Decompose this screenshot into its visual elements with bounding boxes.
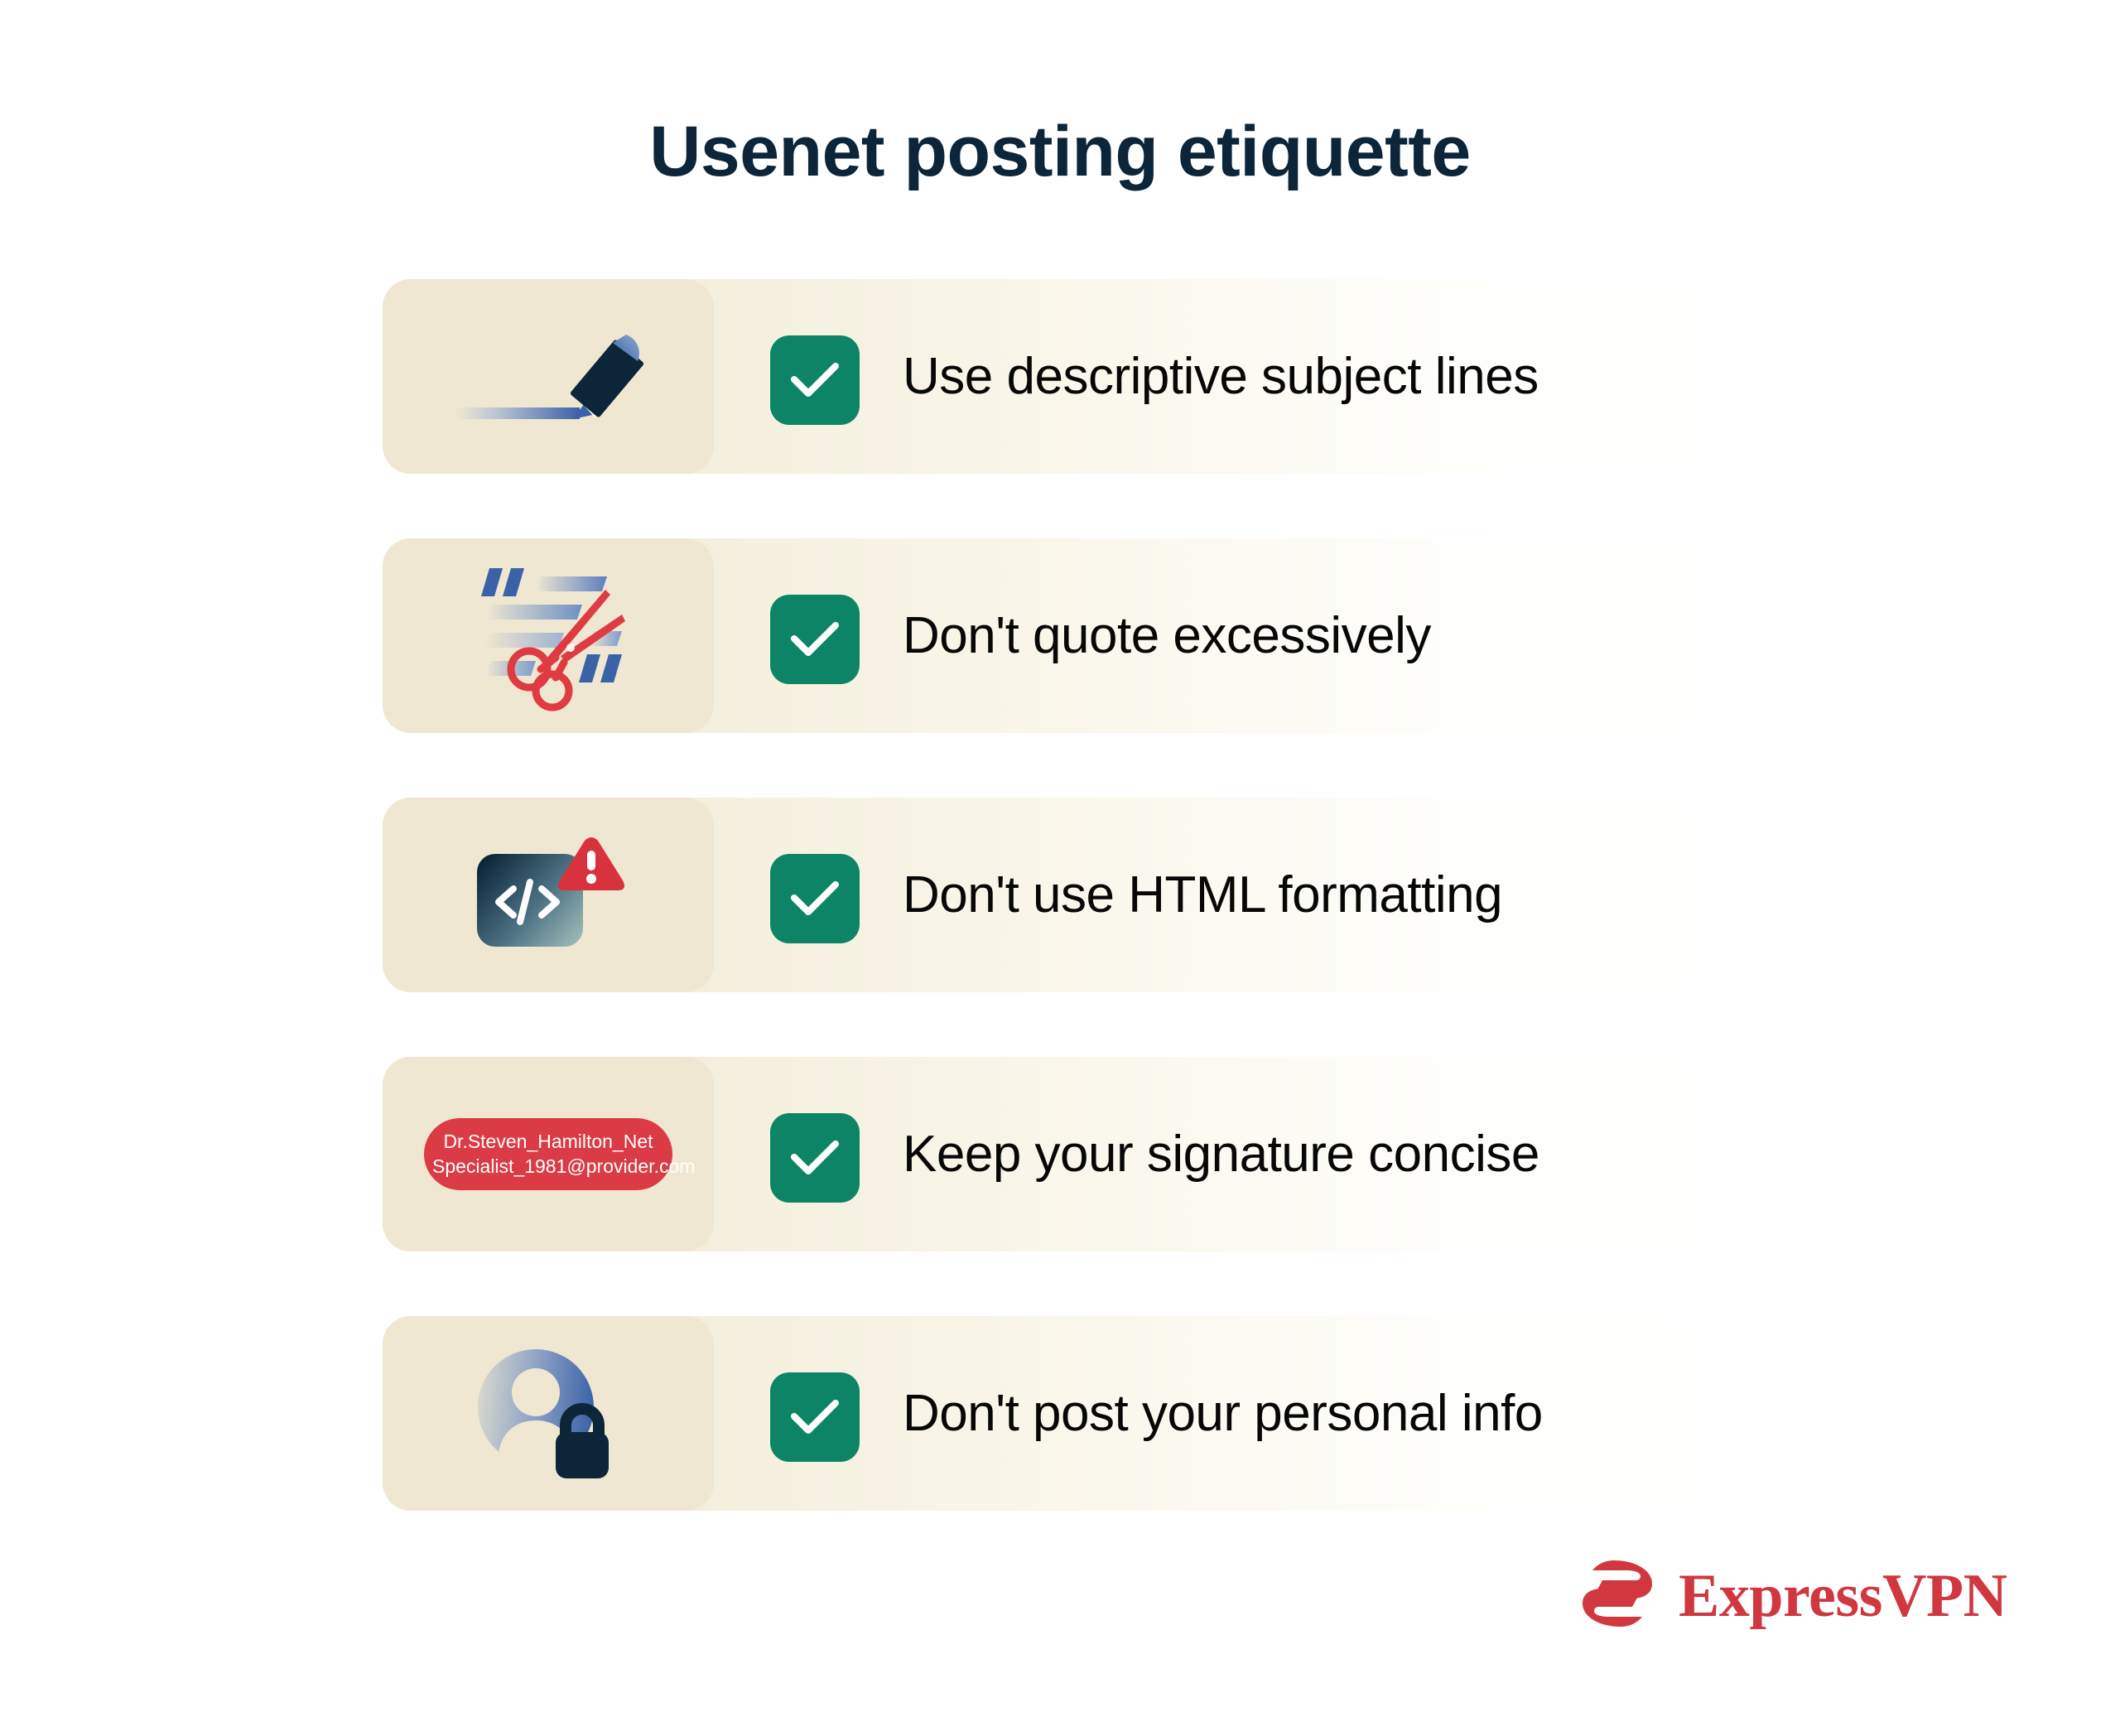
icon-panel: [383, 279, 714, 474]
list-item-label: Use descriptive subject lines: [903, 347, 1539, 406]
avatar-lock-privacy-icon: [470, 1341, 627, 1486]
list-item-label: Don't use HTML formatting: [903, 866, 1502, 924]
scissors-cutting-text-icon: [460, 553, 638, 719]
etiquette-list: Use descriptive subject lines: [383, 279, 1699, 1511]
check-icon: [770, 335, 860, 425]
icon-panel: [383, 1316, 714, 1511]
icon-panel: [383, 538, 714, 733]
list-item: Don't post your personal info: [383, 1316, 1699, 1511]
list-item: Don't use HTML formatting: [383, 798, 1699, 992]
infographic-page: Usenet posting etiquette: [0, 0, 2120, 1736]
check-icon: [770, 854, 860, 943]
list-item: Don't quote excessively: [383, 538, 1699, 733]
check-icon: [770, 1372, 860, 1462]
list-item: Dr.Steven_Hamilton_Net Specialist_1981@p…: [383, 1057, 1699, 1251]
check-icon: [770, 595, 860, 684]
brand-logo: ExpressVPN: [1578, 1557, 2007, 1634]
check-icon: [770, 1113, 860, 1203]
page-title: Usenet posting etiquette: [0, 113, 2120, 191]
icon-panel: [383, 798, 714, 992]
brand-name: ExpressVPN: [1679, 1565, 2007, 1627]
pencil-writing-icon: [449, 315, 648, 439]
expressvpn-e-mark-icon: [1578, 1557, 1657, 1634]
list-item-label: Keep your signature concise: [903, 1125, 1539, 1184]
signature-line-2: Specialist_1981@provider.com: [432, 1155, 664, 1179]
long-signature-badge-icon: Dr.Steven_Hamilton_Net Specialist_1981@p…: [424, 1118, 672, 1191]
list-item: Use descriptive subject lines: [383, 279, 1699, 474]
icon-panel: Dr.Steven_Hamilton_Net Specialist_1981@p…: [383, 1057, 714, 1251]
html-code-warning-icon: [465, 829, 631, 962]
list-item-label: Don't post your personal info: [903, 1384, 1543, 1443]
signature-line-1: Dr.Steven_Hamilton_Net: [432, 1130, 664, 1155]
list-item-label: Don't quote excessively: [903, 606, 1431, 665]
